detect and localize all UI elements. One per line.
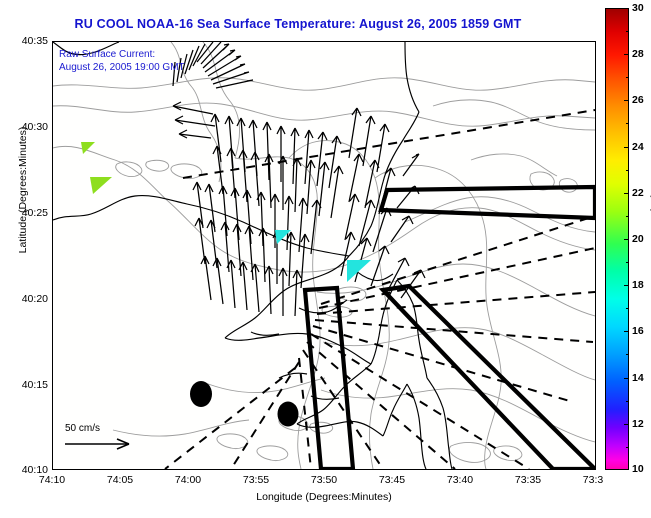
sst-map-figure: RU COOL NOAA-16 Sea Surface Temperature:… [0, 0, 651, 518]
figure-title: RU COOL NOAA-16 Sea Surface Temperature:… [0, 17, 596, 31]
colorbar-tick-20: 20 [632, 233, 644, 245]
x-axis-ticks: 74:10 74:05 74:00 73:55 73:50 73:45 73:4… [52, 474, 596, 490]
scale-legend-label: 50 cm/s [63, 423, 173, 434]
coastline [53, 42, 452, 469]
x-tick-3: 73:55 [243, 474, 269, 486]
x-tick-4: 73:50 [311, 474, 337, 486]
map-plot-area: Raw Surface Current: August 26, 2005 19:… [52, 41, 596, 470]
colorbar-tick-30: 30 [632, 2, 644, 14]
colorbar-tick-28: 28 [632, 48, 644, 60]
colorbar-tick-22: 22 [632, 187, 644, 199]
colorbar-tick-26: 26 [632, 94, 644, 106]
scale-arrow-icon [63, 436, 139, 452]
bathymetry-contours [53, 42, 595, 469]
x-tick-7: 73:35 [515, 474, 541, 486]
x-tick-6: 73:40 [447, 474, 473, 486]
scale-legend: 50 cm/s [63, 423, 173, 457]
y-axis-label: Latitude (Degrees:Minutes) [17, 115, 29, 265]
x-tick-8: 73:3 [583, 474, 603, 486]
current-annotation: Raw Surface Current: August 26, 2005 19:… [59, 48, 185, 74]
surface-current-vectors [173, 42, 425, 316]
radar-station-markers-green [81, 142, 112, 194]
colorbar-tick-24: 24 [632, 141, 644, 153]
site-markers-filled [190, 381, 299, 427]
colorbar-tick-14: 14 [632, 372, 644, 384]
colorbar-tick-12: 12 [632, 418, 644, 430]
current-annotation-line1: Raw Surface Current: [59, 48, 185, 61]
x-tick-0: 74:10 [39, 474, 65, 486]
x-axis-label: Longitude (Degrees:Minutes) [52, 491, 596, 503]
map-canvas [53, 42, 595, 469]
x-tick-2: 74:00 [175, 474, 201, 486]
x-tick-5: 73:45 [379, 474, 405, 486]
colorbar-gradient [605, 8, 629, 470]
y-tick-4: 40:15 [22, 379, 48, 391]
y-tick-3: 40:20 [22, 293, 48, 305]
current-annotation-line2: August 26, 2005 19:00 GMT [59, 61, 185, 74]
y-tick-0: 40:35 [22, 35, 48, 47]
colorbar-tick-18: 18 [632, 279, 644, 291]
colorbar-tick-10: 10 [632, 463, 644, 475]
colorbar-tick-16: 16 [632, 325, 644, 337]
x-tick-1: 74:05 [107, 474, 133, 486]
